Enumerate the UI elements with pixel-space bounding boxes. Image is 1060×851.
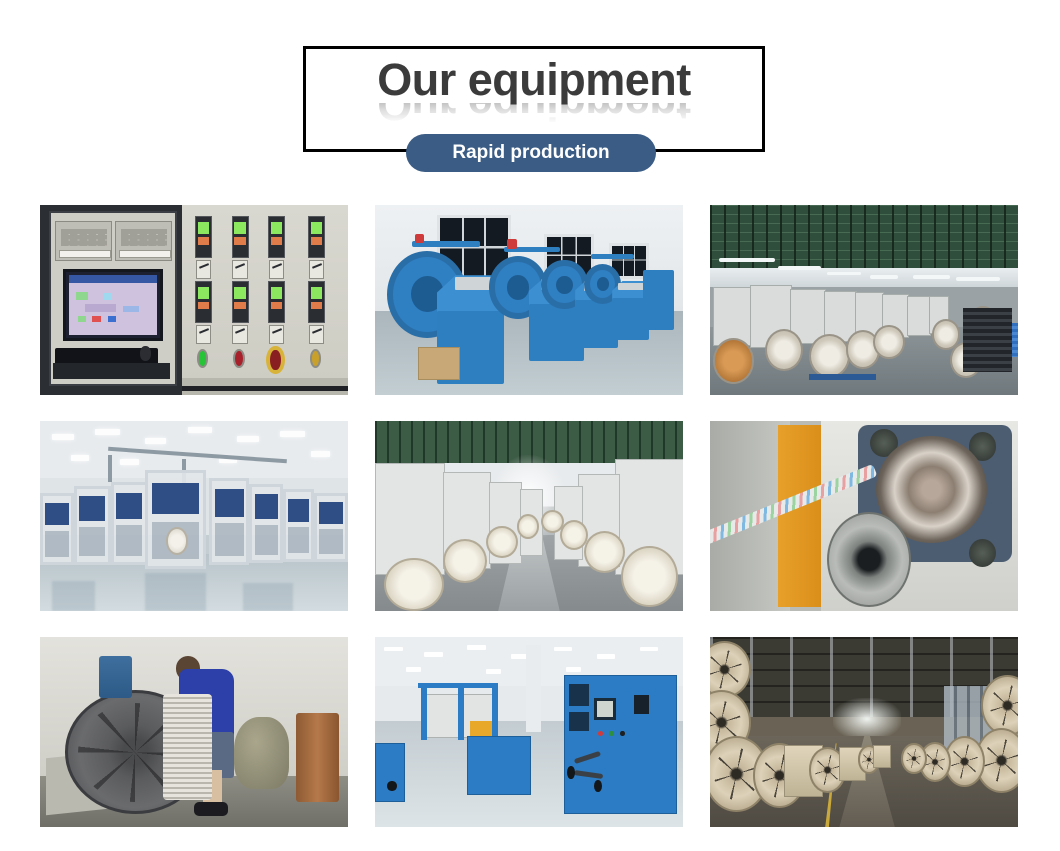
stranding-aisle-scene (375, 421, 683, 611)
equipment-photo-9[interactable]: Finished-goods warehouse stacked with la… (710, 637, 1018, 827)
hmi-screen (63, 269, 163, 341)
pulley-wheel (827, 512, 911, 607)
cabinet-body (40, 205, 182, 395)
extrusion-line-scene (375, 637, 683, 827)
drum-warehouse-scene (710, 637, 1018, 827)
page-title: Our equipment (377, 57, 691, 102)
page-title-reflection: Our equipment (377, 103, 691, 127)
control-cabinet-scene (40, 205, 348, 395)
equipment-photo-7[interactable]: Operator in a blue shirt loading cable o… (40, 637, 348, 827)
hmi-display (594, 698, 616, 720)
automated-cells-scene (40, 421, 348, 611)
equipment-photo-4[interactable]: Automated assembly and testing cells on … (40, 421, 348, 611)
pulley-closeup-scene (710, 421, 1018, 611)
drive-motor (99, 656, 133, 698)
equipment-photo-5[interactable]: Double aisle of stranding machines with … (375, 421, 683, 611)
subtitle-badge-label: Rapid production (452, 142, 609, 164)
equipment-photo-2[interactable]: Row of blue high-speed braiding / cablin… (375, 205, 683, 395)
braiding-machines-scene (375, 205, 683, 395)
equipment-photo-3[interactable]: Large factory hall with green roof truss… (710, 205, 1018, 395)
equipment-photo-8[interactable]: Insulation extrusion line with blue payo… (375, 637, 683, 827)
control-cabinet-blue (564, 675, 677, 814)
equipment-photo-grid: Electrical control cabinet with HMI touc… (40, 205, 1018, 821)
operator-drum-scene (40, 637, 348, 827)
panel-face (182, 205, 348, 395)
equipment-photo-6[interactable]: Close-up of a twisted multi-colour pair … (710, 421, 1018, 611)
subtitle-badge: Rapid production (406, 134, 656, 172)
wire-drawing-hall-scene (710, 205, 1018, 395)
equipment-photo-1[interactable]: Electrical control cabinet with HMI touc… (40, 205, 348, 395)
